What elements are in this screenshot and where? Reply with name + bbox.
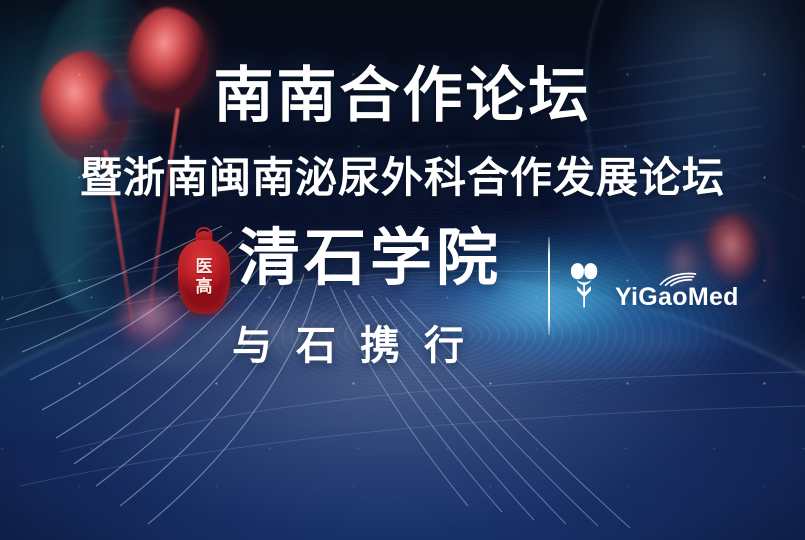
brand-row: 医 高 清石学院 [0,232,805,338]
vertical-divider [548,237,550,335]
swoosh-wave-icon [657,271,699,287]
poster-tagline: 与石携行 [232,326,488,366]
red-seal-badge-icon: 医 高 [178,240,230,314]
partner-logo: YiGaoMed [562,260,739,310]
seal-char-top: 医 [196,258,213,276]
seal-text: 医 高 [178,240,230,314]
partner-name: YiGaoMed [615,285,739,310]
poster-content: 南南合作论坛 暨浙南闽南泌尿外科合作发展论坛 医 高 清石学院 [0,0,805,540]
academy-name: 清石学院 [238,228,502,290]
seal-char-bottom: 高 [196,278,213,296]
poster-subtitle: 暨浙南闽南泌尿外科合作发展论坛 [0,157,805,199]
event-poster: 南南合作论坛 暨浙南闽南泌尿外科合作发展论坛 医 高 清石学院 [0,0,805,540]
partner-text-wrap: YiGaoMed [615,273,739,310]
kidney-pair-logo-icon [562,260,606,310]
poster-main-title: 南南合作论坛 [0,66,805,126]
